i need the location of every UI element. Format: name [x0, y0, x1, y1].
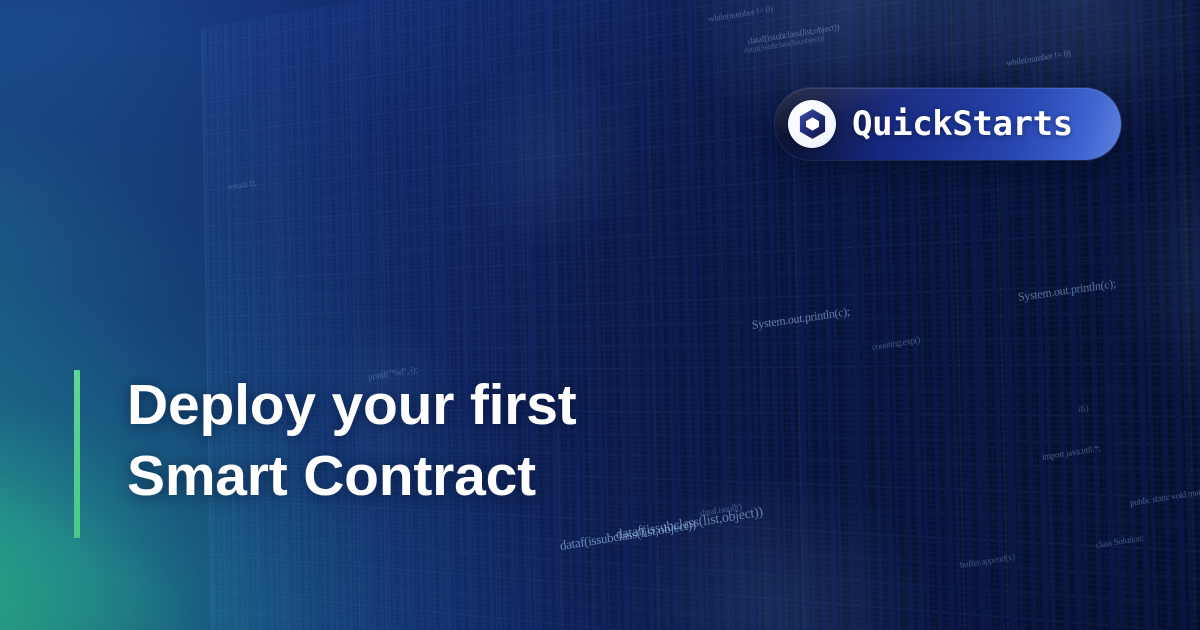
headline-line-2: Smart Contract	[127, 441, 577, 512]
chainlink-hexagon-icon	[788, 100, 836, 148]
headline-group: Deploy your first Smart Contract	[74, 370, 577, 538]
quickstarts-brand-pill[interactable]: QuickStarts	[775, 88, 1121, 160]
headline-line-1: Deploy your first	[127, 370, 577, 441]
quickstarts-banner: System.out.println(c);System.out.println…	[0, 0, 1200, 630]
page-title: Deploy your first Smart Contract	[127, 370, 577, 538]
quickstarts-label: QuickStarts	[852, 104, 1073, 144]
green-accent-bar	[74, 370, 80, 538]
